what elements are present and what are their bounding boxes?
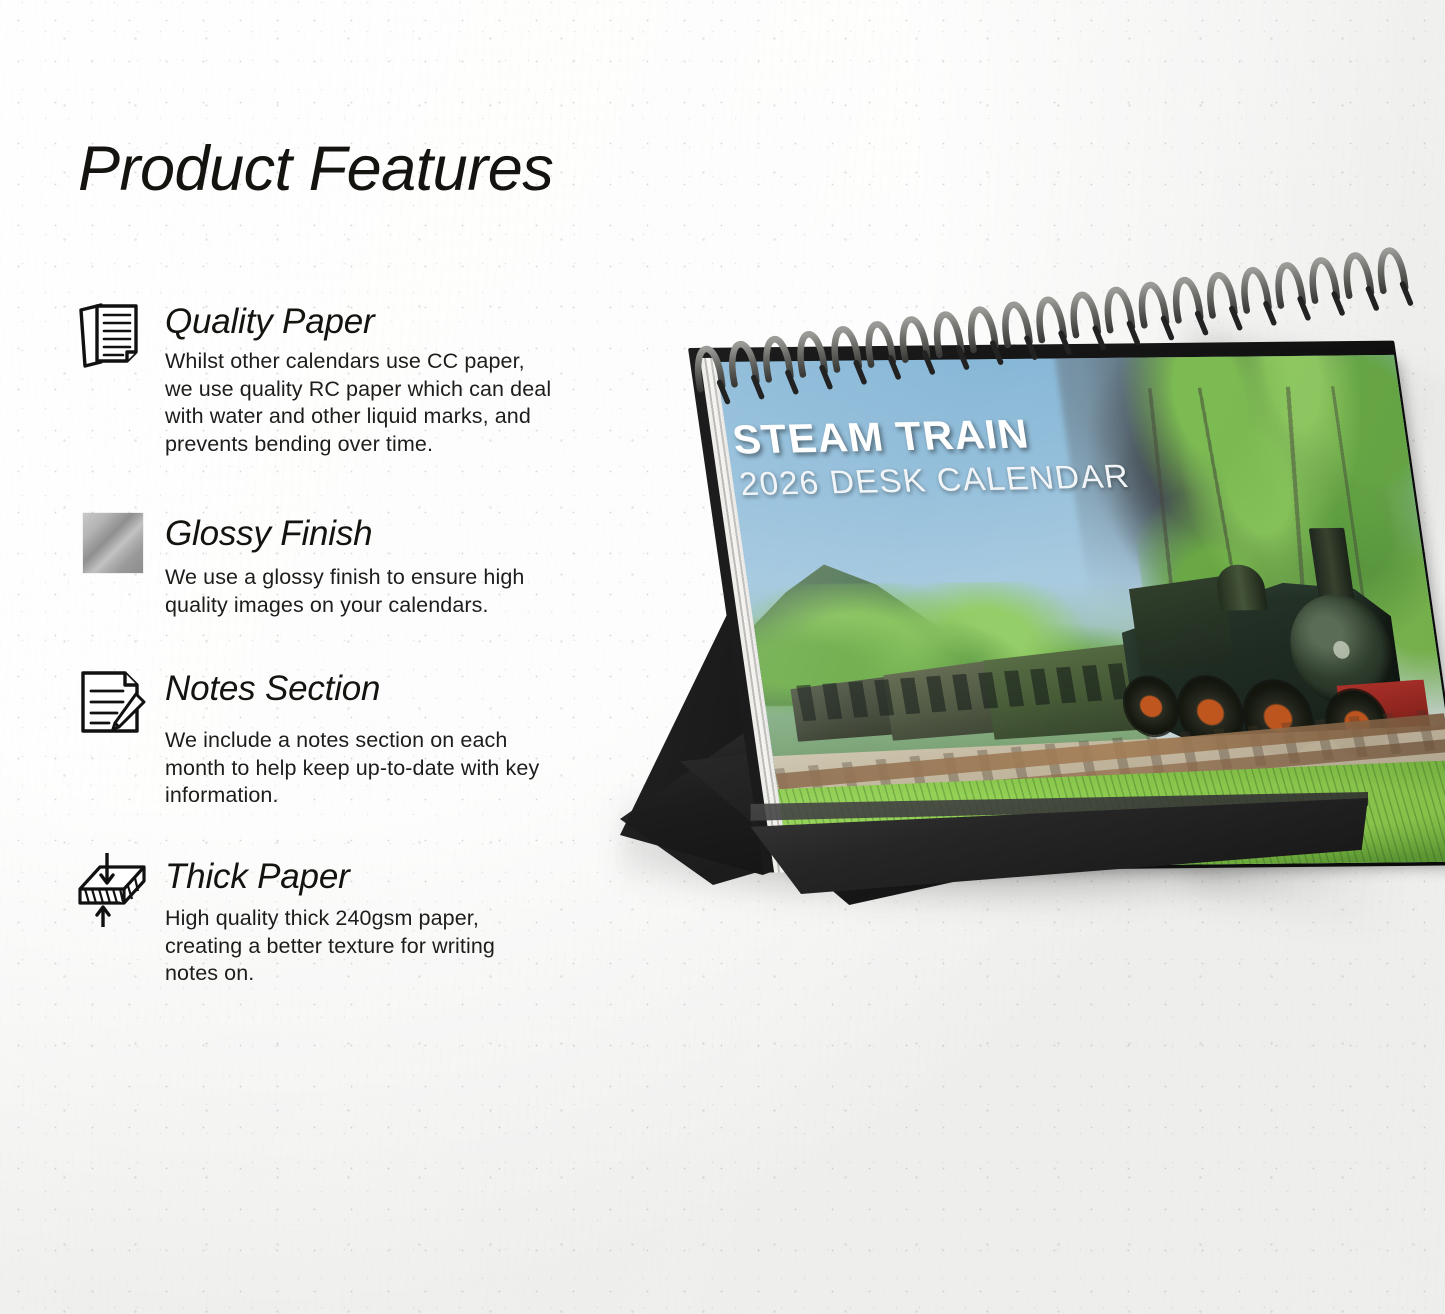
feature-title: Glossy Finish xyxy=(165,514,372,554)
glossy-gradient-square xyxy=(83,513,143,573)
feature-title: Thick Paper xyxy=(165,857,350,897)
desk-calendar-mockup: STEAM TRAIN 2026 DESK CALENDAR xyxy=(580,300,1445,1000)
feature-body: We use a glossy finish to ensure high qu… xyxy=(165,564,620,619)
page-title: Product Features xyxy=(78,133,553,205)
features-column: Product Features Quality Paper xyxy=(0,0,640,1314)
glossy-swatch-icon xyxy=(75,508,149,582)
calendar-cover-subtitle: 2026 DESK CALENDAR xyxy=(737,459,1132,500)
feature-body: High quality thick 240gsm paper, creatin… xyxy=(165,905,620,988)
notes-pencil-icon xyxy=(75,665,149,739)
documents-stack-icon xyxy=(75,300,149,374)
feature-title: Notes Section xyxy=(165,669,380,709)
feature-body: Whilst other calendars use CC paper, we … xyxy=(165,348,620,458)
calendar-cover-text: STEAM TRAIN 2026 DESK CALENDAR xyxy=(730,412,1132,500)
feature-title: Quality Paper xyxy=(165,302,374,342)
thick-paper-slab-icon xyxy=(75,853,149,927)
feature-body: We include a notes section on each month… xyxy=(165,727,620,810)
